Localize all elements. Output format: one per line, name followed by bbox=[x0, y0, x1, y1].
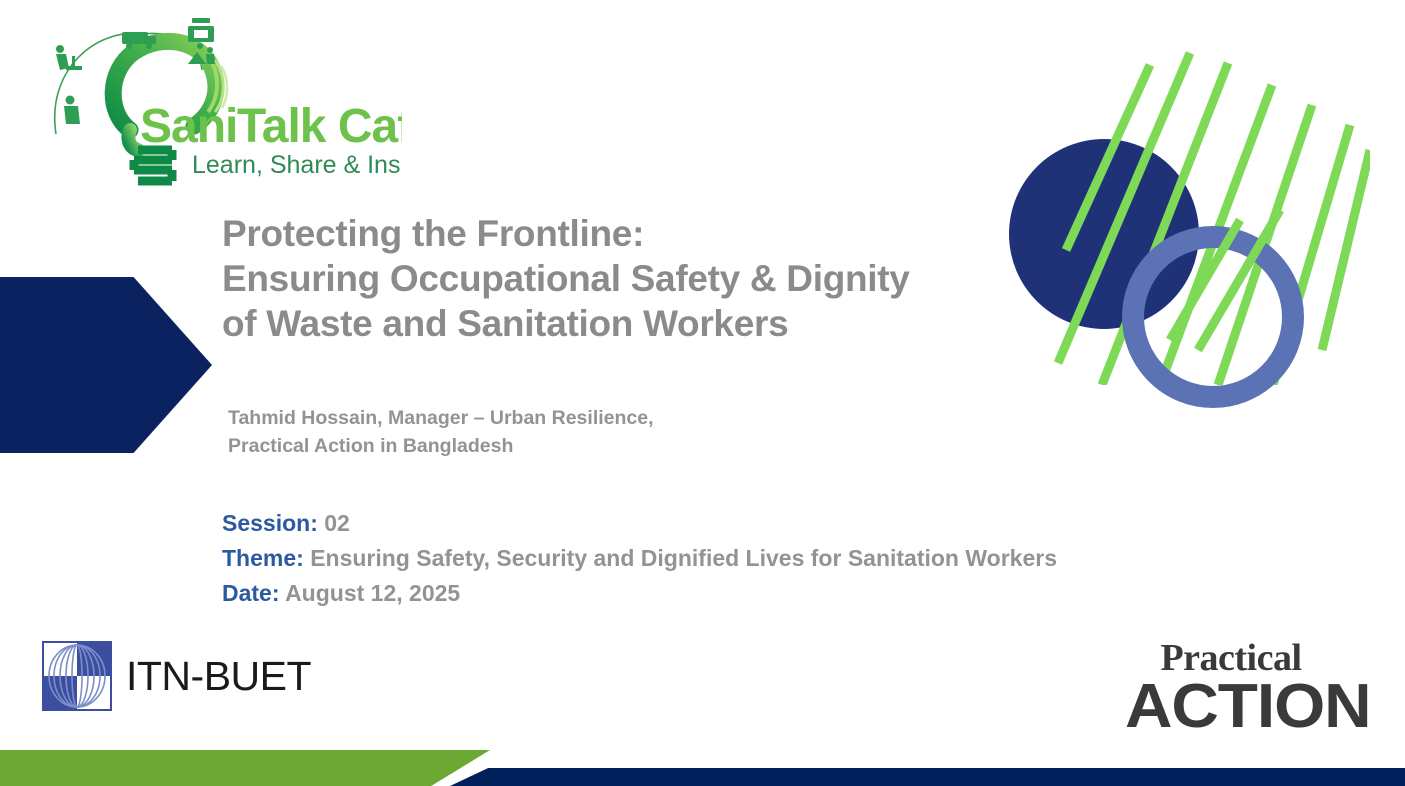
presenter-info: Tahmid Hossain, Manager – Urban Resilien… bbox=[228, 404, 928, 460]
globe-quadrant-icon bbox=[42, 641, 112, 711]
page-title: Protecting the Frontline: Ensuring Occup… bbox=[222, 211, 1022, 346]
svg-text:Sani: Sani bbox=[140, 100, 237, 153]
date-label: Date: bbox=[222, 580, 280, 606]
svg-text:Learn, Share & Inspire: Learn, Share & Inspire bbox=[192, 151, 402, 179]
title-line-1: Protecting the Frontline: bbox=[222, 211, 1022, 256]
presenter-organization: Practical Action in Bangladesh bbox=[228, 432, 928, 460]
title-line-3: of Waste and Sanitation Workers bbox=[222, 301, 1022, 346]
worker-figure-icon bbox=[64, 96, 80, 125]
slide-canvas: Sani Talk Cafe Learn, Share & Inspire Pr… bbox=[0, 0, 1405, 786]
session-value: 02 bbox=[324, 510, 350, 536]
theme-row: Theme: Ensuring Safety, Security and Dig… bbox=[222, 541, 1342, 576]
session-row: Session: 02 bbox=[222, 506, 1342, 541]
theme-value: Ensuring Safety, Security and Dignified … bbox=[310, 545, 1057, 571]
session-details: Session: 02 Theme: Ensuring Safety, Secu… bbox=[222, 506, 1342, 611]
date-row: Date: August 12, 2025 bbox=[222, 576, 1342, 611]
navy-arrow-shape bbox=[0, 277, 212, 453]
session-label: Session: bbox=[222, 510, 318, 536]
practical-action-line-2: ACTION bbox=[1125, 678, 1337, 736]
title-line-2: Ensuring Occupational Safety & Dignity bbox=[222, 256, 1022, 301]
itn-buet-wordmark: ITN-BUET bbox=[126, 656, 311, 697]
practical-action-logo: Practical ACTION bbox=[1131, 638, 1331, 736]
lightbulb-community-icon: Sani Talk Cafe Learn, Share & Inspire bbox=[22, 8, 402, 188]
blue-ring-shape bbox=[1122, 226, 1304, 408]
sanitalk-cafe-logo: Sani Talk Cafe Learn, Share & Inspire bbox=[22, 8, 402, 188]
footer-green-bar bbox=[0, 750, 490, 786]
svg-text:Talk Cafe: Talk Cafe bbox=[237, 100, 402, 153]
date-value: August 12, 2025 bbox=[285, 580, 460, 606]
footer-navy-bar bbox=[450, 768, 1405, 786]
facility-figure-icon bbox=[188, 18, 214, 42]
theme-label: Theme: bbox=[222, 545, 304, 571]
itn-buet-logo: ITN-BUET bbox=[42, 645, 311, 707]
presenter-name-role: Tahmid Hossain, Manager – Urban Resilien… bbox=[228, 404, 928, 432]
